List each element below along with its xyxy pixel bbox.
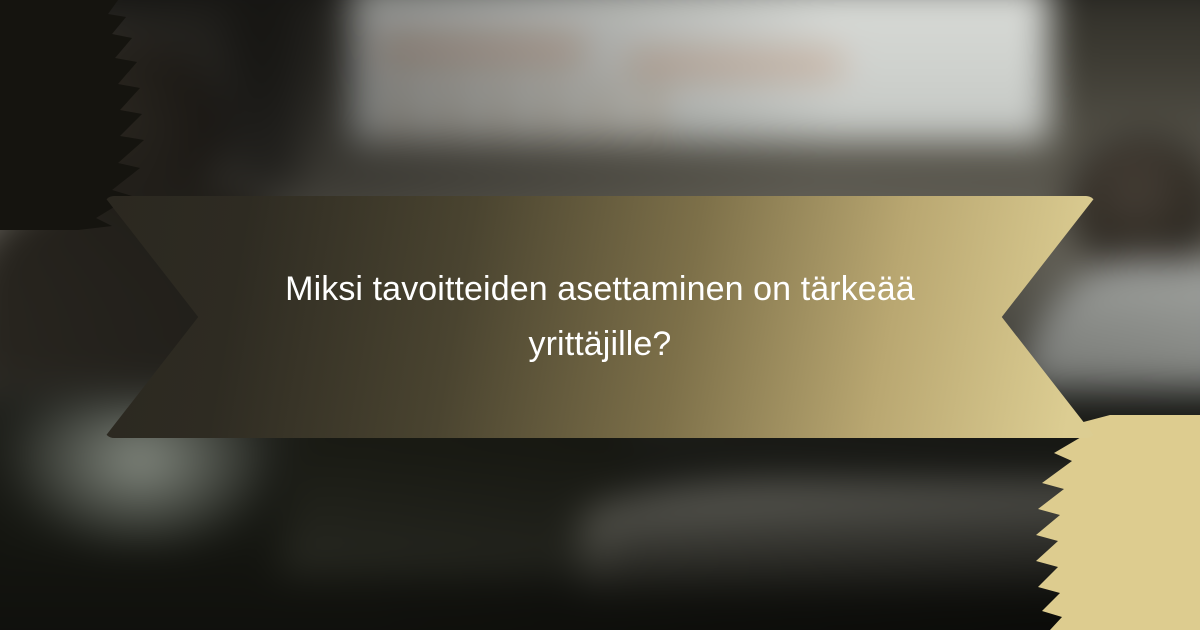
page-title-line-1: Miksi tavoitteiden asettaminen on tärkeä… [285, 262, 915, 317]
title-ribbon: Miksi tavoitteiden asettaminen on tärkeä… [104, 196, 1096, 438]
promo-card: Miksi tavoitteiden asettaminen on tärkeä… [0, 0, 1200, 630]
page-title-line-2: yrittäjille? [529, 317, 672, 372]
ribbon-text-container: Miksi tavoitteiden asettaminen on tärkeä… [104, 196, 1096, 438]
